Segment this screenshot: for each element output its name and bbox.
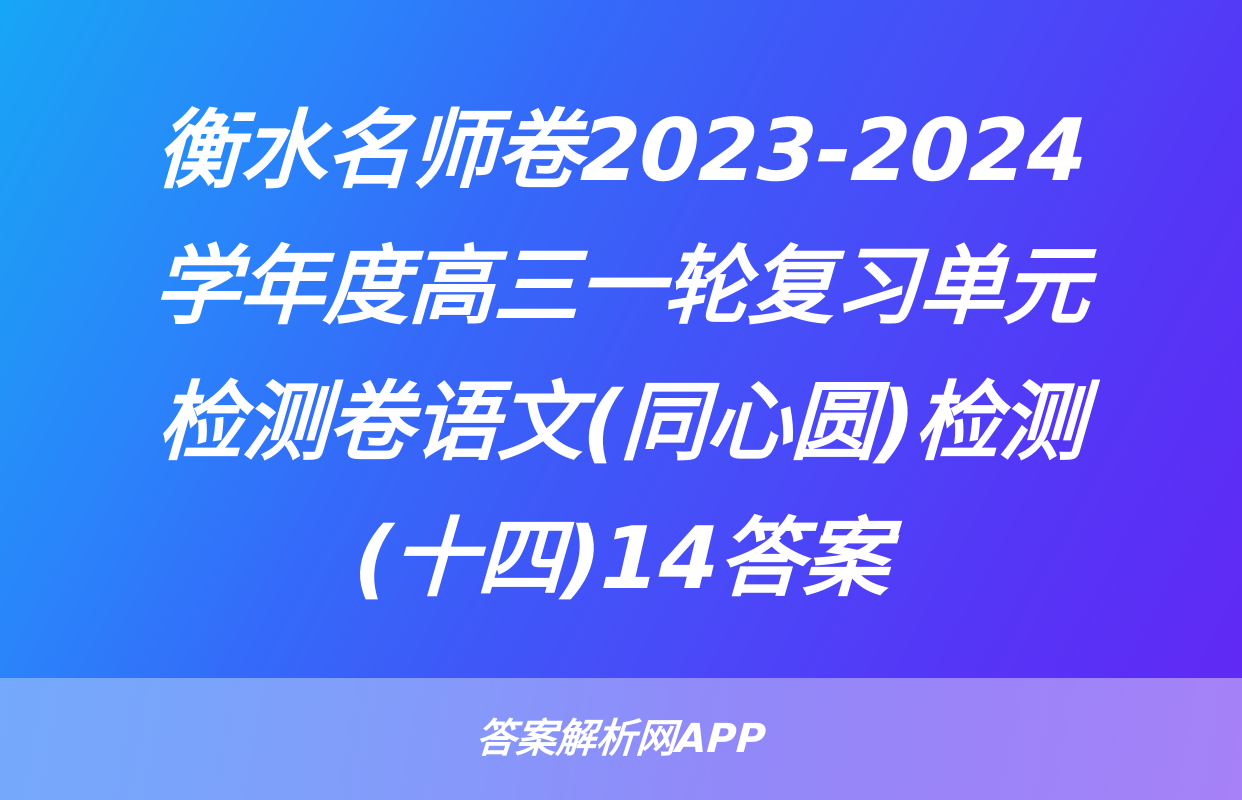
title-line-1: 衡水名师卷2023-2024 xyxy=(49,108,1192,194)
poster-card: 衡水名师卷2023-2024 学年度高三一轮复习单元 检测卷语文(同心圆)检测 … xyxy=(0,0,1242,800)
app-watermark-label: 答案解析网APP xyxy=(475,719,767,759)
page-title: 衡水名师卷2023-2024 学年度高三一轮复习单元 检测卷语文(同心圆)检测 … xyxy=(51,108,1191,602)
title-line-2: 学年度高三一轮复习单元 xyxy=(49,244,1192,330)
title-line-4: (十四)14答案 xyxy=(49,516,1192,602)
hero-gradient-panel: 衡水名师卷2023-2024 学年度高三一轮复习单元 检测卷语文(同心圆)检测 … xyxy=(0,0,1242,678)
title-line-3: 检测卷语文(同心圆)检测 xyxy=(49,380,1192,466)
footer-watermark-band: 答案解析网APP xyxy=(0,678,1242,800)
